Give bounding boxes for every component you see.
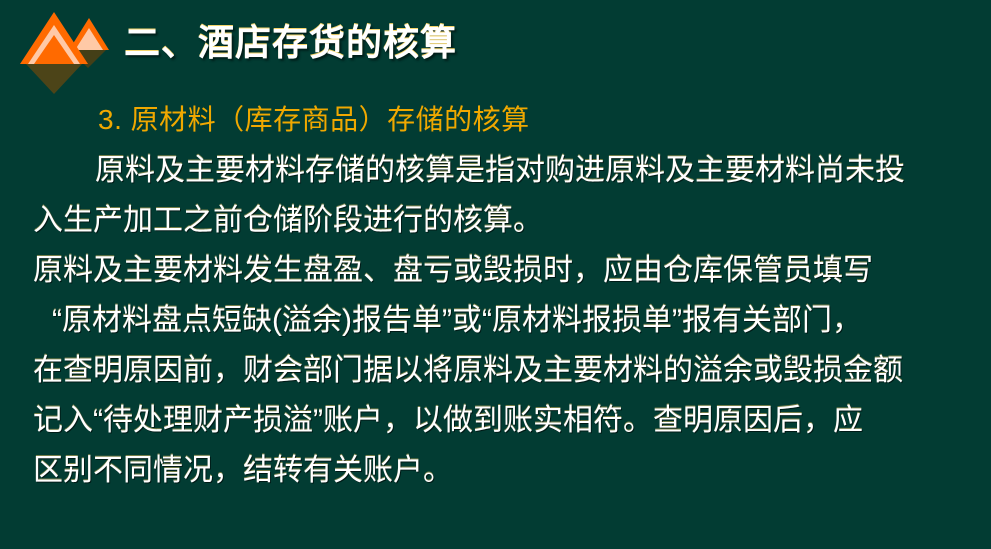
- slide-title: 二、酒店存货的核算: [124, 14, 457, 66]
- presentation-slide: 二、酒店存货的核算 3. 原材料（库存商品）存储的核算 原料及主要材料存储的核算…: [0, 0, 991, 549]
- slide-body: 原料及主要材料存储的核算是指对购进原料及主要材料尚未投 入生产加工之前仓储阶段进…: [0, 146, 991, 496]
- body-line: 记入“待处理财产损溢”账户，以做到账实相符。查明原因后，应: [0, 396, 991, 446]
- slide-subtitle: 3. 原材料（库存商品）存储的核算: [98, 98, 530, 138]
- mountain-triangles-logo-icon: [18, 6, 110, 88]
- body-line: 原料及主要材料发生盘盈、盘亏或毁损时，应由仓库保管员填写: [0, 246, 991, 296]
- body-line: 入生产加工之前仓储阶段进行的核算。: [0, 196, 991, 246]
- logo-reflection-large: [26, 64, 82, 94]
- body-line: 区别不同情况，结转有关账户。: [0, 446, 991, 496]
- body-line: “原材料盘点短缺(溢余)报告单”或“原材料报损单”报有关部门，: [0, 296, 991, 346]
- logo-triangle-large-inner: [34, 35, 74, 64]
- slide-header: 二、酒店存货的核算: [0, 0, 991, 92]
- body-line: 原料及主要材料存储的核算是指对购进原料及主要材料尚未投: [0, 146, 991, 196]
- body-line: 在查明原因前，财会部门据以将原料及主要材料的溢余或毁损金额: [0, 346, 991, 396]
